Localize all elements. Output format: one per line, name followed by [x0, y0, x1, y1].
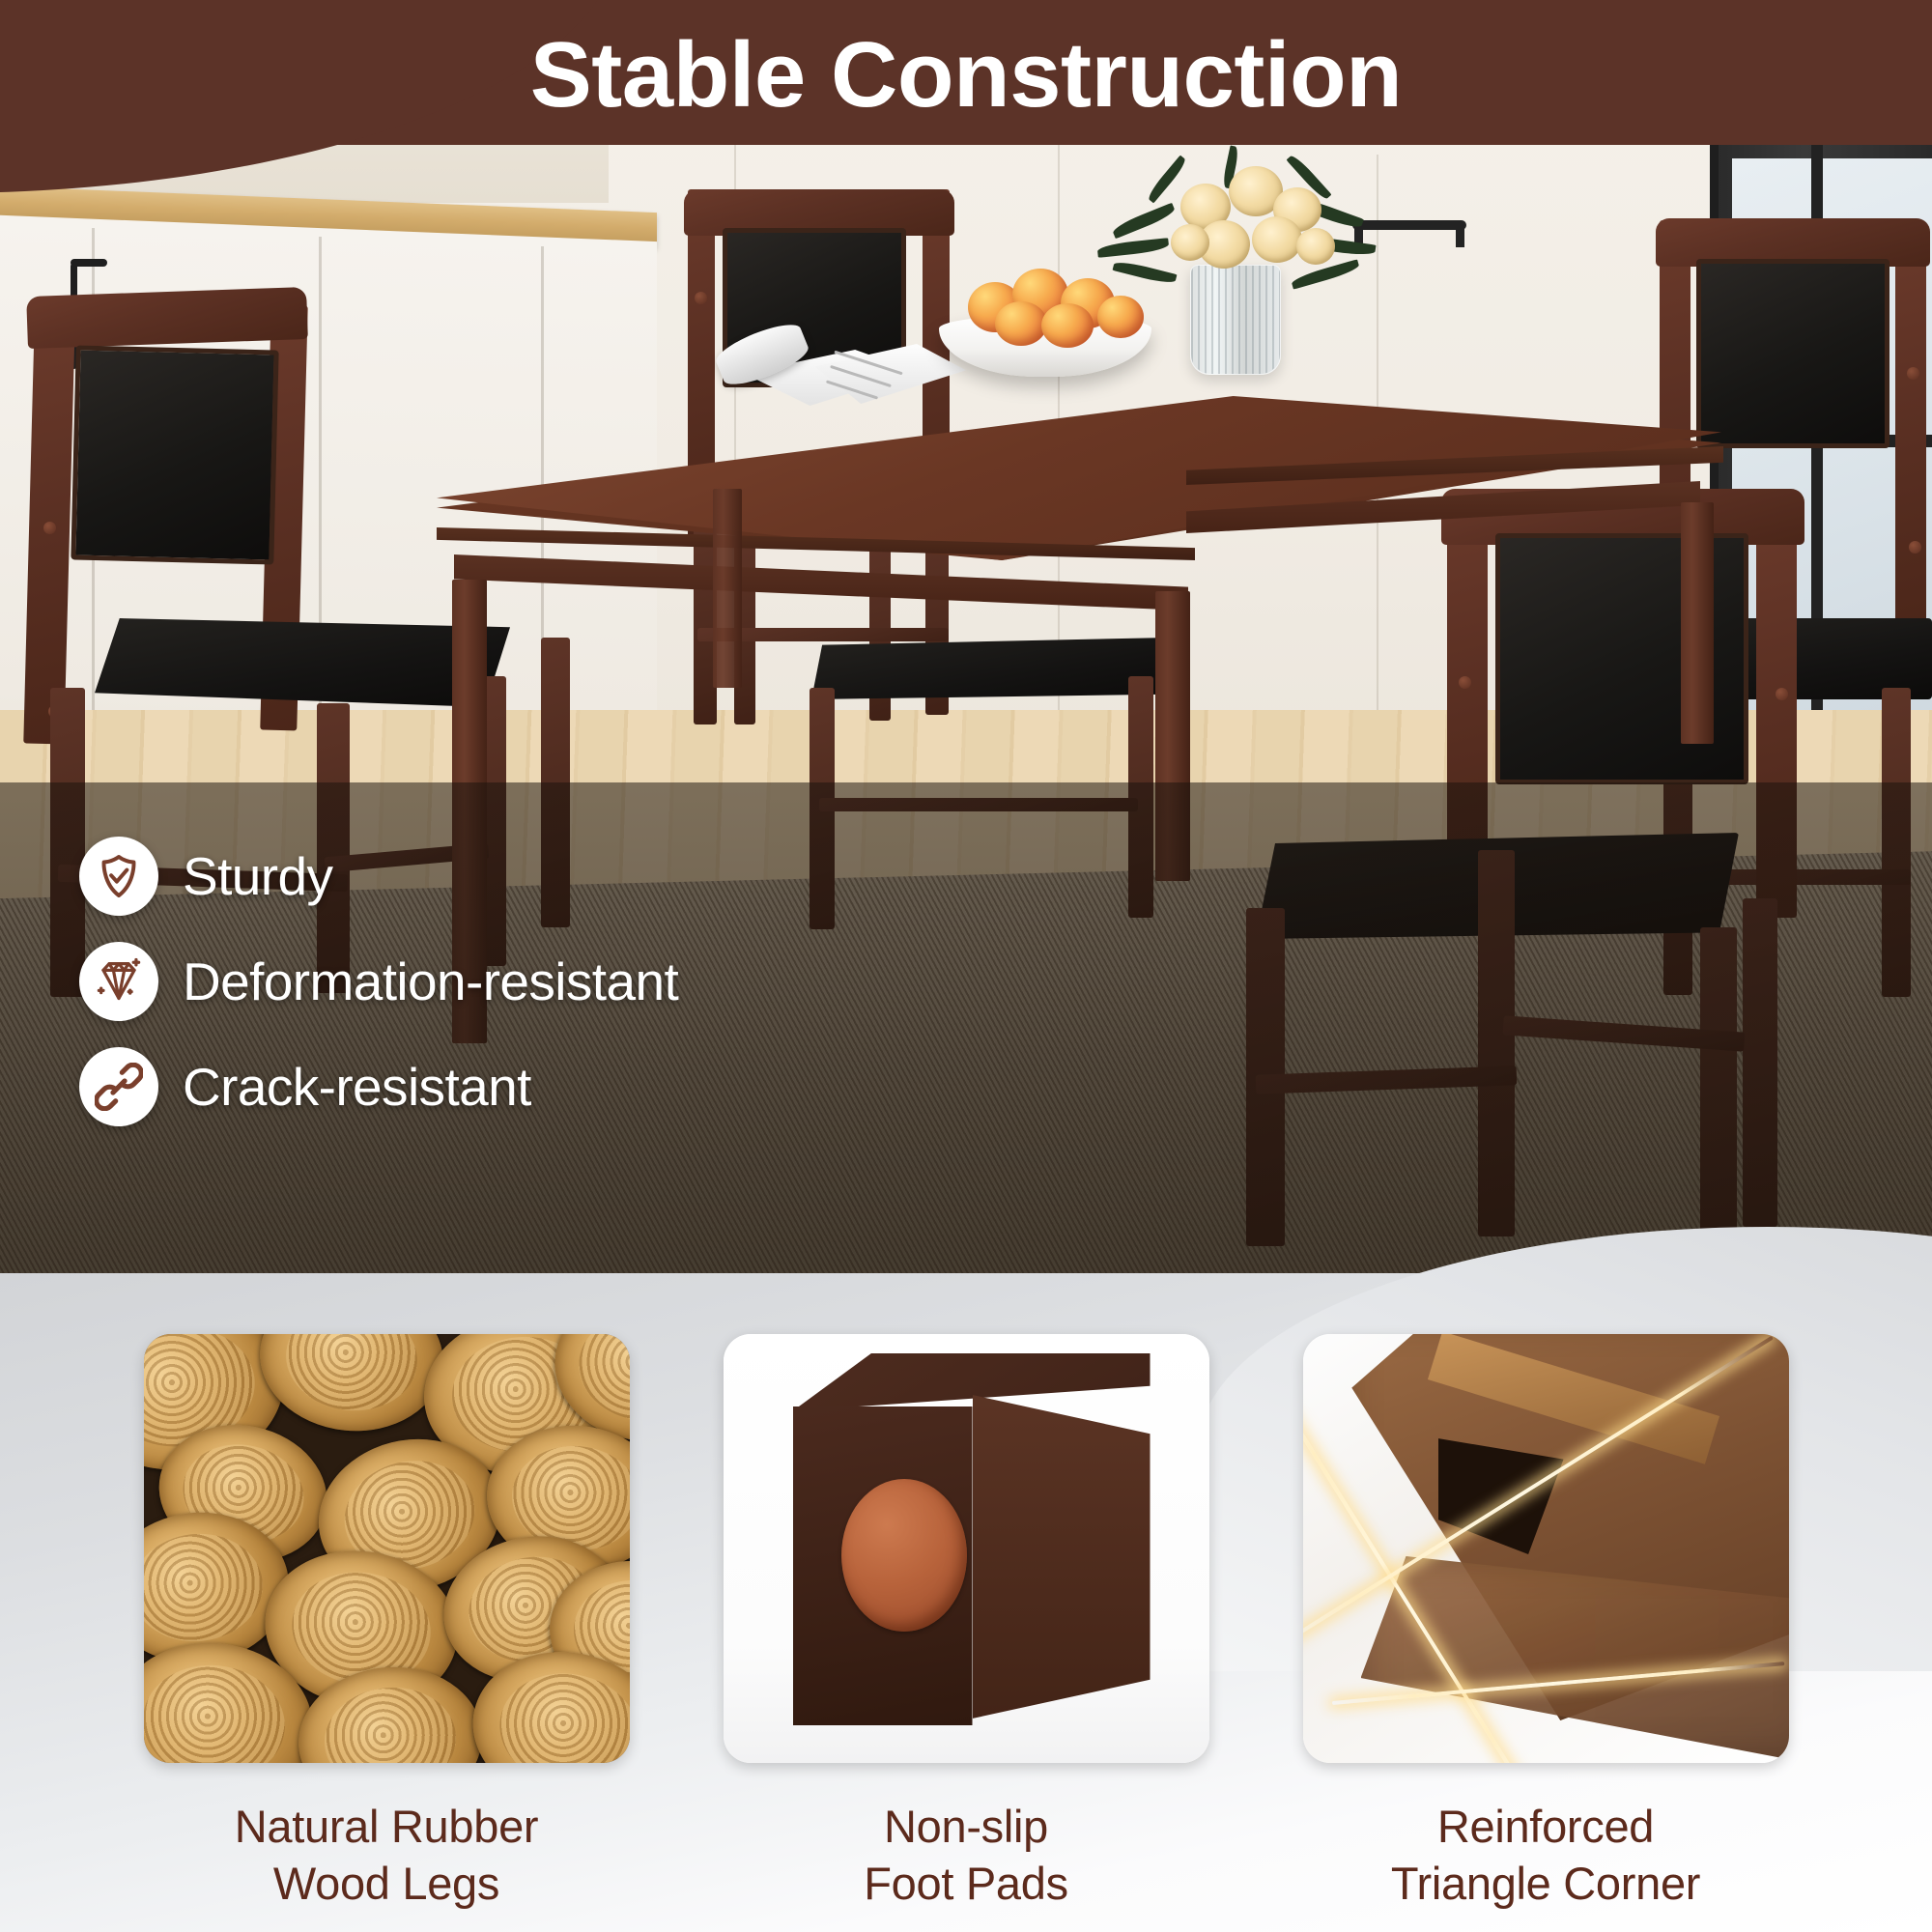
shield-check-icon: [79, 837, 158, 916]
detail-card-reinforced-triangle-corner: Reinforced Triangle Corner: [1303, 1334, 1789, 1912]
glass-vase: [1190, 265, 1281, 375]
feature-item-sturdy: Sturdy: [79, 837, 678, 916]
card-caption-line2: Foot Pads: [724, 1855, 1209, 1912]
card-caption: Natural Rubber Wood Legs: [144, 1798, 630, 1912]
feature-item-crack-resistant: Crack-resistant: [79, 1047, 678, 1126]
feature-label: Crack-resistant: [183, 1056, 531, 1118]
stacked-logs-photo: [144, 1334, 630, 1763]
card-caption-line1: Reinforced: [1303, 1798, 1789, 1855]
peach: [1041, 303, 1094, 348]
peach: [1097, 296, 1144, 338]
reinforced-corner-photo: [1303, 1334, 1789, 1763]
feature-item-deformation-resistant: Deformation-resistant: [79, 942, 678, 1021]
feature-label: Sturdy: [183, 845, 332, 907]
card-caption-line2: Triangle Corner: [1303, 1855, 1789, 1912]
card-caption: Non-slip Foot Pads: [724, 1798, 1209, 1912]
product-feature-page: Stable Construction Sturdy: [0, 0, 1932, 1932]
foot-pad-cube-render: [724, 1334, 1209, 1763]
card-caption-line1: Non-slip: [724, 1798, 1209, 1855]
feature-list: Sturdy Deformation-resistant: [79, 837, 678, 1152]
card-caption-line2: Wood Legs: [144, 1855, 630, 1912]
diamond-sparkle-icon: [79, 942, 158, 1021]
page-title: Stable Construction: [0, 25, 1932, 126]
card-caption-line1: Natural Rubber: [144, 1798, 630, 1855]
detail-card-non-slip-foot-pads: Non-slip Foot Pads: [724, 1334, 1209, 1912]
wall-hook-tip: [71, 259, 107, 267]
detail-card-natural-rubber-wood-legs: Natural Rubber Wood Legs: [144, 1334, 630, 1912]
detail-card-list: Natural Rubber Wood Legs Non-slip Foot P…: [0, 1334, 1932, 1912]
feature-label: Deformation-resistant: [183, 951, 678, 1012]
card-caption: Reinforced Triangle Corner: [1303, 1798, 1789, 1912]
chain-link-icon: [79, 1047, 158, 1126]
peach: [995, 301, 1047, 346]
towel-bar: [1352, 220, 1466, 230]
